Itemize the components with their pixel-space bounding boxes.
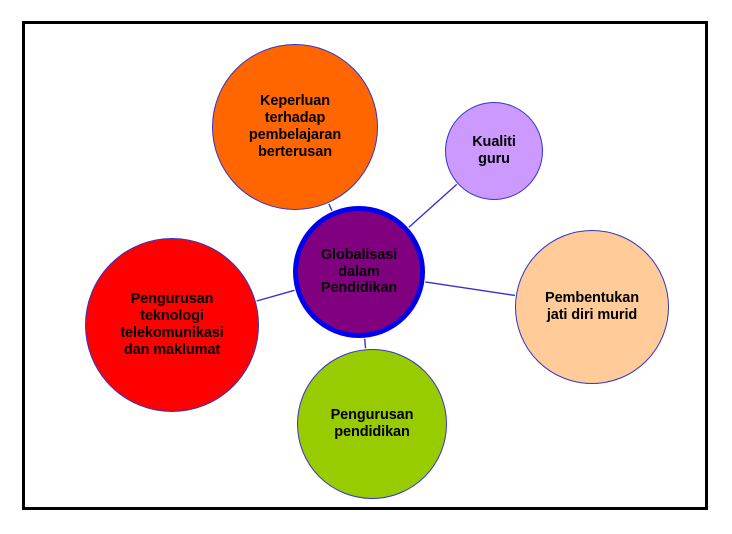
node-keperluan-terhadap-pembelajaran-berterusan[interactable]: Keperluan terhadap pembelajaran berterus… <box>212 44 378 210</box>
node-keperluan-label: Keperluan terhadap pembelajaran berterus… <box>249 93 341 160</box>
node-pengurusan-pendidikan[interactable]: Pengurusan pendidikan <box>297 349 447 499</box>
node-central-label: Globalisasi dalam Pendidikan <box>321 247 397 297</box>
node-pembentukan-label: Pembentukan jati diri murid <box>545 290 639 324</box>
node-globalisasi-dalam-pendidikan[interactable]: Globalisasi dalam Pendidikan <box>293 206 425 338</box>
node-kualiti-guru[interactable]: Kualiti guru <box>445 102 543 200</box>
node-pembentukan-jati-diri-murid[interactable]: Pembentukan jati diri murid <box>515 230 669 384</box>
diagram-canvas: Globalisasi dalam Pendidikan Keperluan t… <box>0 0 732 534</box>
node-pengurusan-teknologi-label: Pengurusan teknologi telekomunikasi dan … <box>120 291 223 358</box>
node-pengurusan-pendidikan-label: Pengurusan pendidikan <box>331 407 414 441</box>
node-pengurusan-teknologi-telekomunikasi-dan-maklumat[interactable]: Pengurusan teknologi telekomunikasi dan … <box>85 238 259 412</box>
node-kualiti-guru-label: Kualiti guru <box>472 134 516 168</box>
